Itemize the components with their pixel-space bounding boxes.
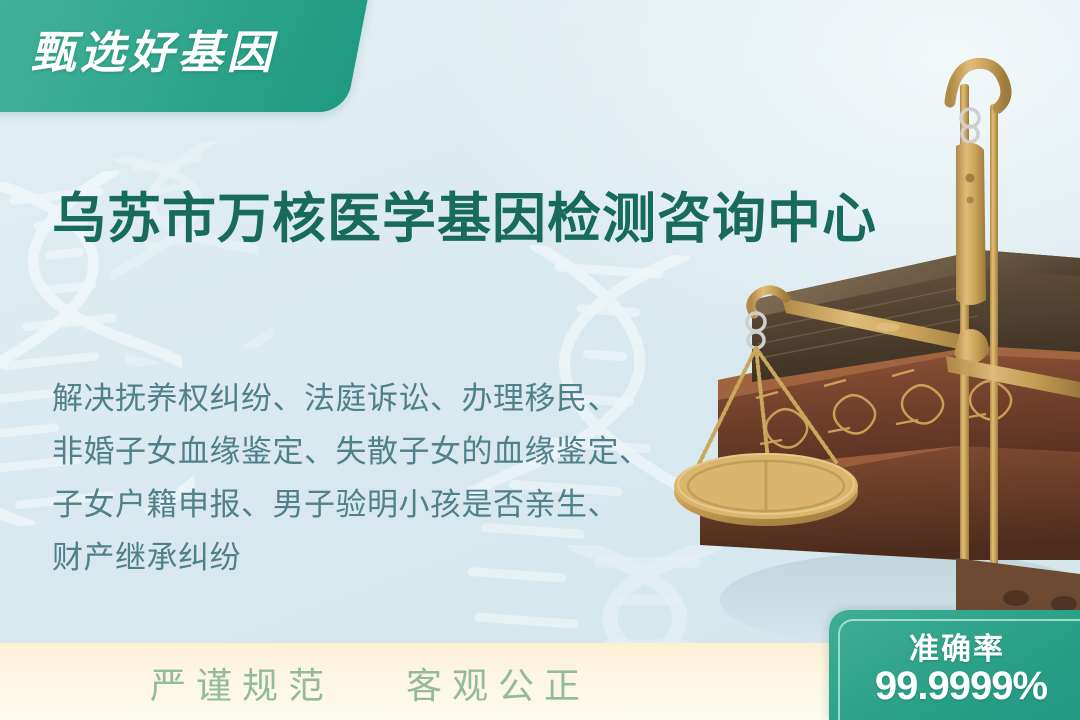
brand-banner-text: 甄选好基因 (31, 16, 276, 81)
services-line: 非婚子女血缘鉴定、失散子女的血缘鉴定、 (52, 425, 712, 478)
page-title: 乌苏市万核医学基因检测咨询中心 (52, 188, 877, 250)
slogan-item: 严谨规范 (150, 657, 334, 709)
scale-and-books-photo (660, 0, 1080, 660)
slogan-item: 客观公正 (406, 657, 590, 709)
services-line: 解决抚养权纠纷、法庭诉讼、办理移民、 (52, 372, 712, 425)
services-line: 子女户籍申报、男子验明小孩是否亲生、 (52, 478, 712, 531)
slogan-group: 严谨规范 客观公正 (150, 657, 590, 709)
brand-banner: 甄选好基因 (0, 0, 374, 112)
promotional-poster: 甄选好基因 乌苏市万核医学基因检测咨询中心 解决抚养权纠纷、法庭诉讼、办理移民、… (0, 0, 1080, 720)
dna-helix-icon (91, 137, 275, 370)
accuracy-badge: 准确率 99.9999% (829, 610, 1080, 720)
services-description: 解决抚养权纠纷、法庭诉讼、办理移民、 非婚子女血缘鉴定、失散子女的血缘鉴定、 子… (52, 372, 712, 584)
accuracy-value: 99.9999% (829, 664, 1080, 709)
accuracy-label: 准确率 (829, 624, 1080, 668)
services-line: 财产继承纠纷 (52, 531, 712, 584)
